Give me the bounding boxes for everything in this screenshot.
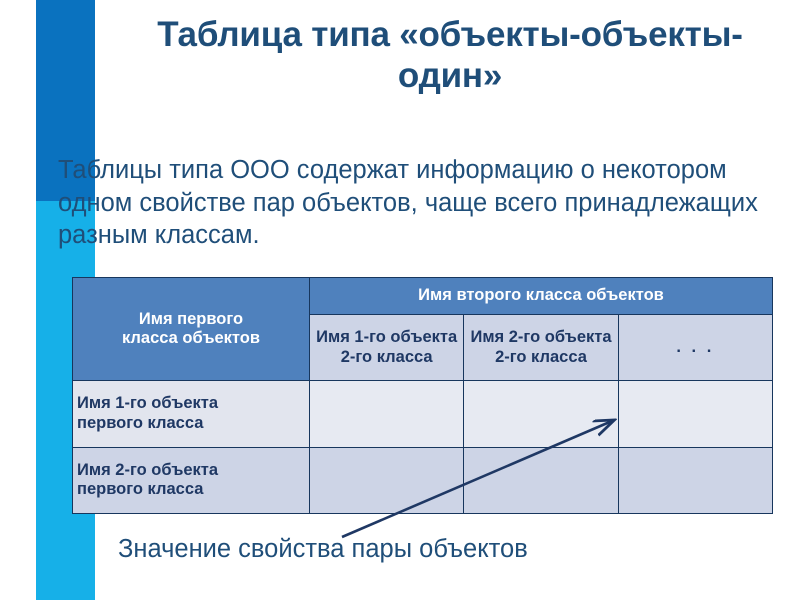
- table-row-header-1: Имя 1-го объекта первого класса: [73, 381, 310, 447]
- table-row-header-2: Имя 2-го объекта первого класса: [73, 447, 310, 513]
- table-cell-r2c2: [464, 447, 618, 513]
- table-cell-r2c3: [618, 447, 772, 513]
- table-row: Имя 2-го объекта первого класса: [73, 447, 773, 513]
- table-cell-r1c1: [310, 381, 464, 447]
- table-cell-r2c1: [310, 447, 464, 513]
- slide-body-text: Таблицы типа ООО содержат информацию о н…: [58, 154, 778, 252]
- table-corner-header: Имя первого класса объектов: [73, 278, 310, 381]
- slide-title: Таблица типа «объекты-объекты-один»: [108, 14, 792, 97]
- table-subheader-2: Имя 2-го объекта 2-го класса: [464, 314, 618, 380]
- table-group-header: Имя второго класса объектов: [310, 278, 773, 315]
- table-subheader-1: Имя 1-го объекта 2-го класса: [310, 314, 464, 380]
- slide: Таблица типа «объекты-объекты-один» Табл…: [0, 0, 800, 600]
- table-row: Имя 1-го объекта первого класса: [73, 381, 773, 447]
- table-container: Имя первого класса объектов Имя второго …: [72, 277, 773, 514]
- annotation-caption: Значение свойства пары объектов: [118, 535, 718, 564]
- ooo-table: Имя первого класса объектов Имя второго …: [72, 277, 773, 514]
- table-header-row-group: Имя первого класса объектов Имя второго …: [73, 278, 773, 315]
- table-subheader-ellipsis: . . .: [618, 314, 772, 380]
- table-cell-r1c2: [464, 381, 618, 447]
- table-cell-r1c3: [618, 381, 772, 447]
